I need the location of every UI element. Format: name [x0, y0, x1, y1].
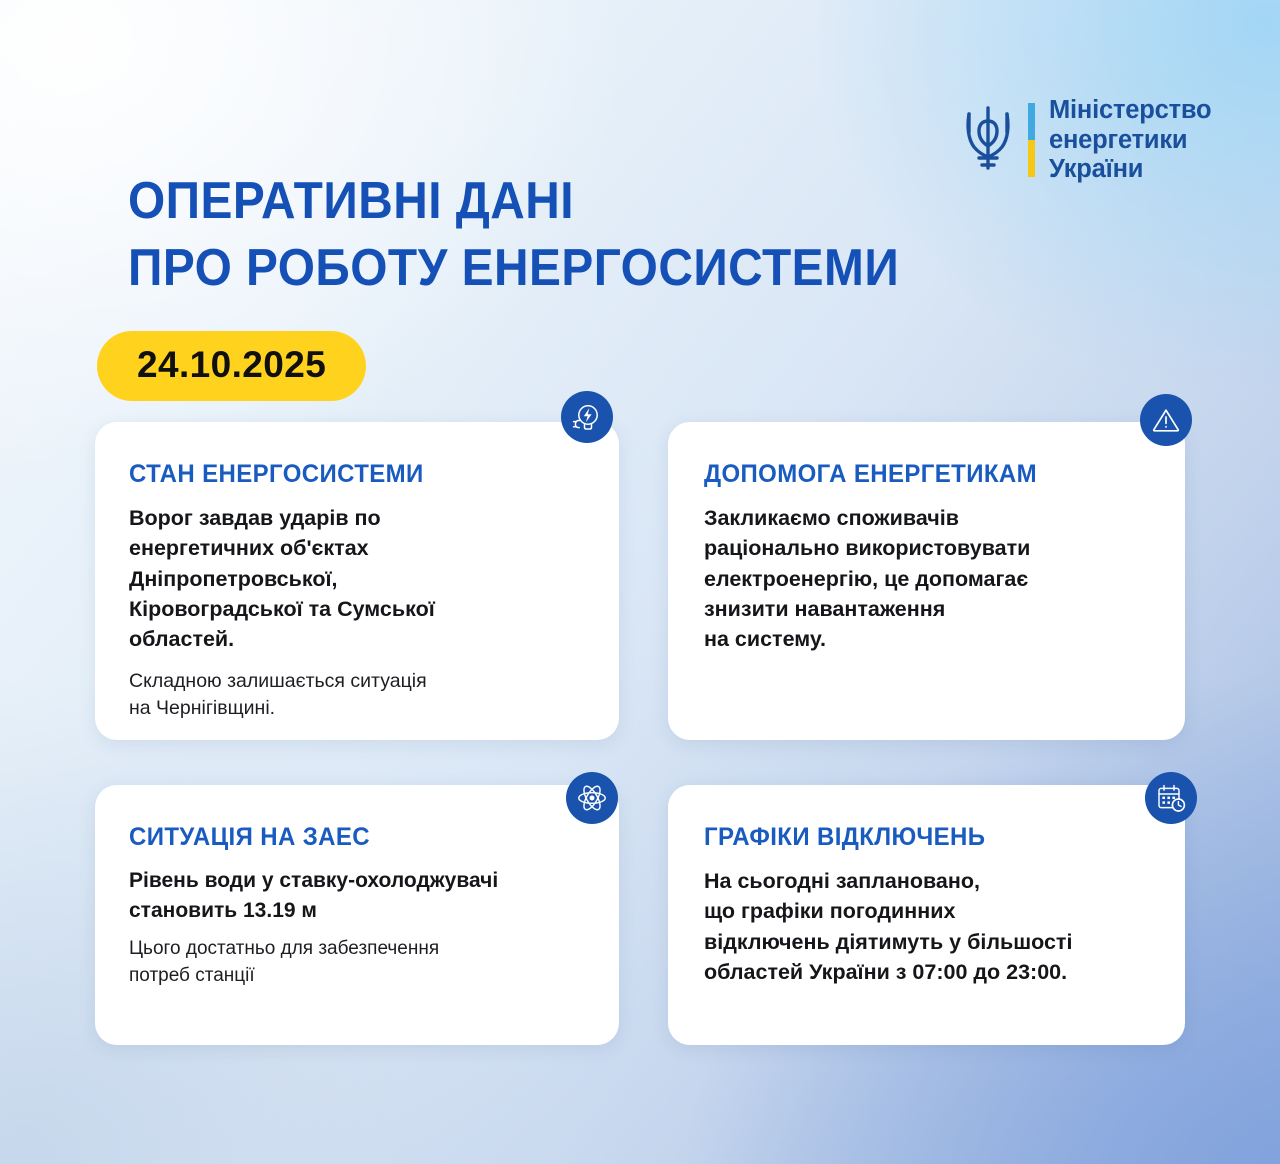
flag-divider-bars: [1028, 103, 1035, 177]
card-primary-text: Закликаємо споживачів раціонально викори…: [704, 503, 1151, 655]
card-secondary-text: Цього достатньо для забезпечення потреб …: [129, 936, 585, 990]
card-primary-text: На сьогодні заплановано, що графіки пого…: [704, 866, 1151, 987]
card-hrafiky-vidkluchen: ГРАФІКИ ВІДКЛЮЧЕНЬ На сьогодні запланова…: [668, 785, 1185, 1045]
card-stan-enerhosystemy: СТАН ЕНЕРГОСИСТЕМИ Ворог завдав ударів п…: [95, 422, 619, 740]
ukraine-trident-icon: [962, 101, 1014, 180]
card-secondary-text: Складною залишається ситуація на Чернігі…: [129, 668, 585, 723]
atom-icon: [566, 772, 618, 824]
warning-triangle-icon: [1140, 394, 1192, 446]
card-primary-text: Ворог завдав ударів по енергетичних об'є…: [129, 503, 585, 655]
calendar-clock-icon: [1145, 772, 1197, 824]
bulb-lightning-plug-icon: [561, 391, 613, 443]
page-title: ОПЕРАТИВНІ ДАНІ ПРО РОБОТУ ЕНЕРГОСИСТЕМИ: [128, 168, 899, 301]
card-heading: СТАН ЕНЕРГОСИСТЕМИ: [129, 460, 567, 489]
date-badge: 24.10.2025: [97, 331, 366, 401]
card-heading: ГРАФІКИ ВІДКЛЮЧЕНЬ: [704, 823, 1133, 852]
ministry-name: Міністерство енергетики України: [1049, 96, 1211, 185]
card-primary-text: Рівень води у ставку-охолоджувачі станов…: [129, 866, 585, 925]
infographic-poster: Міністерство енергетики України ОПЕРАТИВ…: [0, 0, 1280, 1164]
card-heading: ДОПОМОГА ЕНЕРГЕТИКАМ: [704, 460, 1133, 489]
card-dopomoha-enerhetykam: ДОПОМОГА ЕНЕРГЕТИКАМ Закликаємо споживач…: [668, 422, 1185, 740]
card-heading: СИТУАЦІЯ НА ЗАЕС: [129, 823, 567, 852]
ministry-logo: Міністерство енергетики України: [962, 96, 1211, 185]
card-sytuatsiya-na-zaes: СИТУАЦІЯ НА ЗАЕС Рівень води у ставку-ох…: [95, 785, 619, 1045]
